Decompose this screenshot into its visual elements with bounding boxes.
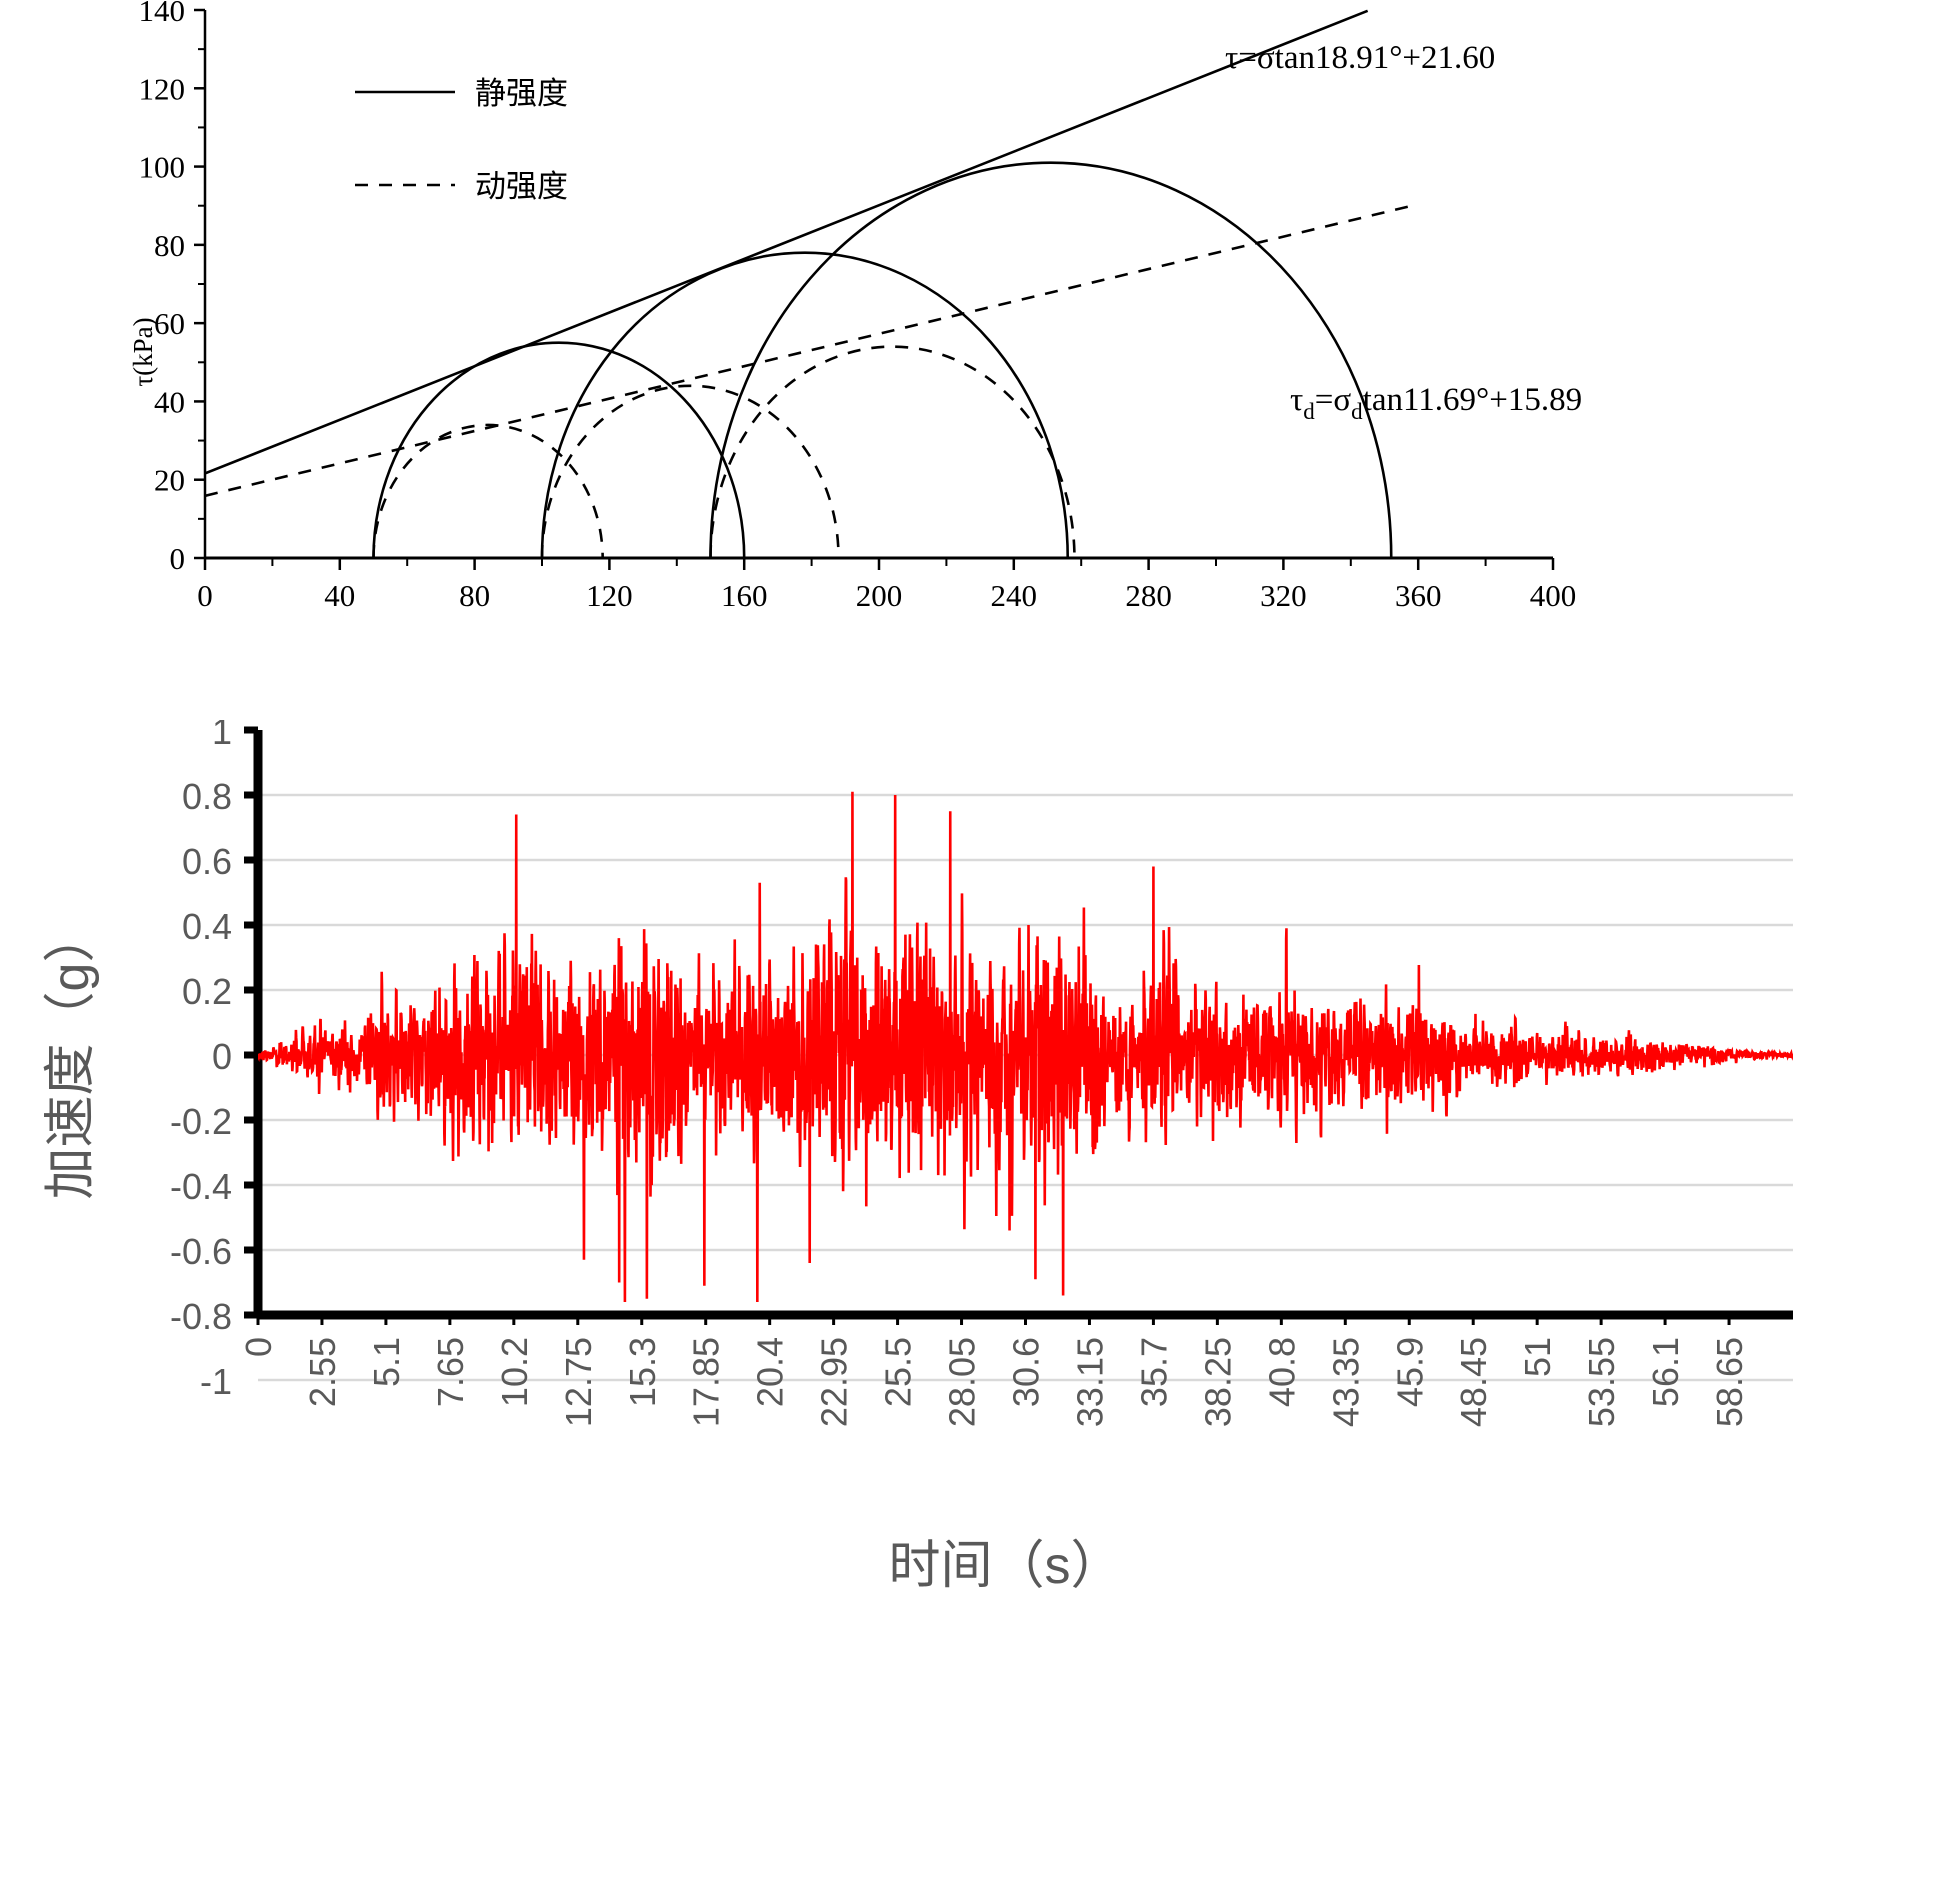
x-tick-label: 15.3 <box>622 1337 663 1407</box>
envelope-static <box>205 11 1368 474</box>
y-tick-label: 40 <box>154 384 185 419</box>
x-tick-label: 160 <box>721 578 768 613</box>
y-tick-label: -1 <box>200 1361 232 1402</box>
x-tick-label: 33.15 <box>1069 1337 1110 1427</box>
y-tick-label: 0.2 <box>182 971 232 1012</box>
y-tick-label: 0.6 <box>182 841 232 882</box>
x-tick-label: 22.95 <box>814 1337 855 1427</box>
x-tick-label: 17.85 <box>686 1337 727 1427</box>
x-tick-label: 5.1 <box>366 1337 407 1387</box>
y-tick-label: -0.2 <box>170 1101 232 1142</box>
x-axis-title: 时间（s） <box>888 1537 1122 1595</box>
y-tick-label: 0 <box>212 1036 232 1077</box>
y-tick-label: 0.4 <box>182 906 232 947</box>
x-tick-label: 0 <box>238 1337 279 1357</box>
x-tick-label: 120 <box>586 578 633 613</box>
x-tick-label: 20.4 <box>750 1337 791 1407</box>
x-tick-label: 38.25 <box>1197 1337 1238 1427</box>
x-tick-label: 240 <box>991 578 1038 613</box>
y-tick-label: 120 <box>139 71 186 106</box>
acceleration-chart: 10.80.60.40.20-0.2-0.4-0.6-0.8-102.555.1… <box>0 720 1941 1890</box>
x-tick-label: 35.7 <box>1133 1337 1174 1407</box>
x-tick-label: 10.2 <box>494 1337 535 1407</box>
y-axis-title: 加速度（g） <box>42 911 100 1200</box>
envelope-dynamic <box>205 204 1418 496</box>
figure-container: 0204060801001201400408012016020024028032… <box>0 0 1941 1890</box>
x-tick-label: 7.65 <box>430 1337 471 1407</box>
x-tick-label: 43.35 <box>1325 1337 1366 1427</box>
x-tick-label: 360 <box>1395 578 1442 613</box>
y-tick-label: 60 <box>154 306 185 341</box>
x-tick-label: 12.75 <box>558 1337 599 1427</box>
x-tick-label: 56.1 <box>1645 1337 1686 1407</box>
x-tick-label: 0 <box>197 578 213 613</box>
acceleration-waveform <box>258 792 1793 1302</box>
y-tick-label: -0.4 <box>170 1166 232 1207</box>
x-tick-label: 53.55 <box>1581 1337 1622 1427</box>
y-axis-title: τ(kPa) <box>128 317 158 386</box>
y-tick-label: -0.8 <box>170 1296 232 1337</box>
x-tick-label: 280 <box>1125 578 1172 613</box>
x-tick-label: 40 <box>324 578 355 613</box>
x-tick-label: 320 <box>1260 578 1307 613</box>
y-tick-label: 100 <box>139 150 186 185</box>
x-tick-label: 58.65 <box>1709 1337 1750 1427</box>
y-tick-label: 1 <box>212 720 232 752</box>
mohr-circle-dynamic-100 <box>542 386 839 558</box>
x-tick-label: 45.9 <box>1389 1337 1430 1407</box>
x-tick-label: 80 <box>459 578 490 613</box>
y-tick-label: 140 <box>139 0 186 28</box>
legend-label-dynamic: 动强度 <box>475 169 568 204</box>
dynamic-envelope-equation: τd=σdtan11.69°+15.89 <box>1290 382 1582 424</box>
x-tick-label: 25.5 <box>878 1337 919 1407</box>
y-tick-label: 20 <box>154 463 185 498</box>
x-tick-label: 2.55 <box>302 1337 343 1407</box>
x-tick-label: 48.45 <box>1453 1337 1494 1427</box>
legend-label-static: 静强度 <box>475 76 568 111</box>
x-tick-label: 400 <box>1530 578 1577 613</box>
mohr-circle-dynamic-50 <box>374 425 603 558</box>
static-envelope-equation: τ=σtan18.91°+21.60 <box>1225 40 1495 76</box>
mohr-circle-static-150 <box>711 163 1392 558</box>
mohr-circle-chart: 0204060801001201400408012016020024028032… <box>0 0 1941 740</box>
y-tick-label: 0.8 <box>182 776 232 817</box>
mohr-circle-dynamic-150 <box>711 347 1075 558</box>
y-tick-label: 80 <box>154 228 185 263</box>
x-tick-label: 200 <box>856 578 903 613</box>
x-tick-label: 30.6 <box>1006 1337 1047 1407</box>
x-tick-label: 51 <box>1517 1337 1558 1377</box>
x-tick-label: 28.05 <box>942 1337 983 1427</box>
y-tick-label: 0 <box>170 541 186 576</box>
x-tick-label: 40.8 <box>1261 1337 1302 1407</box>
y-tick-label: -0.6 <box>170 1231 232 1272</box>
